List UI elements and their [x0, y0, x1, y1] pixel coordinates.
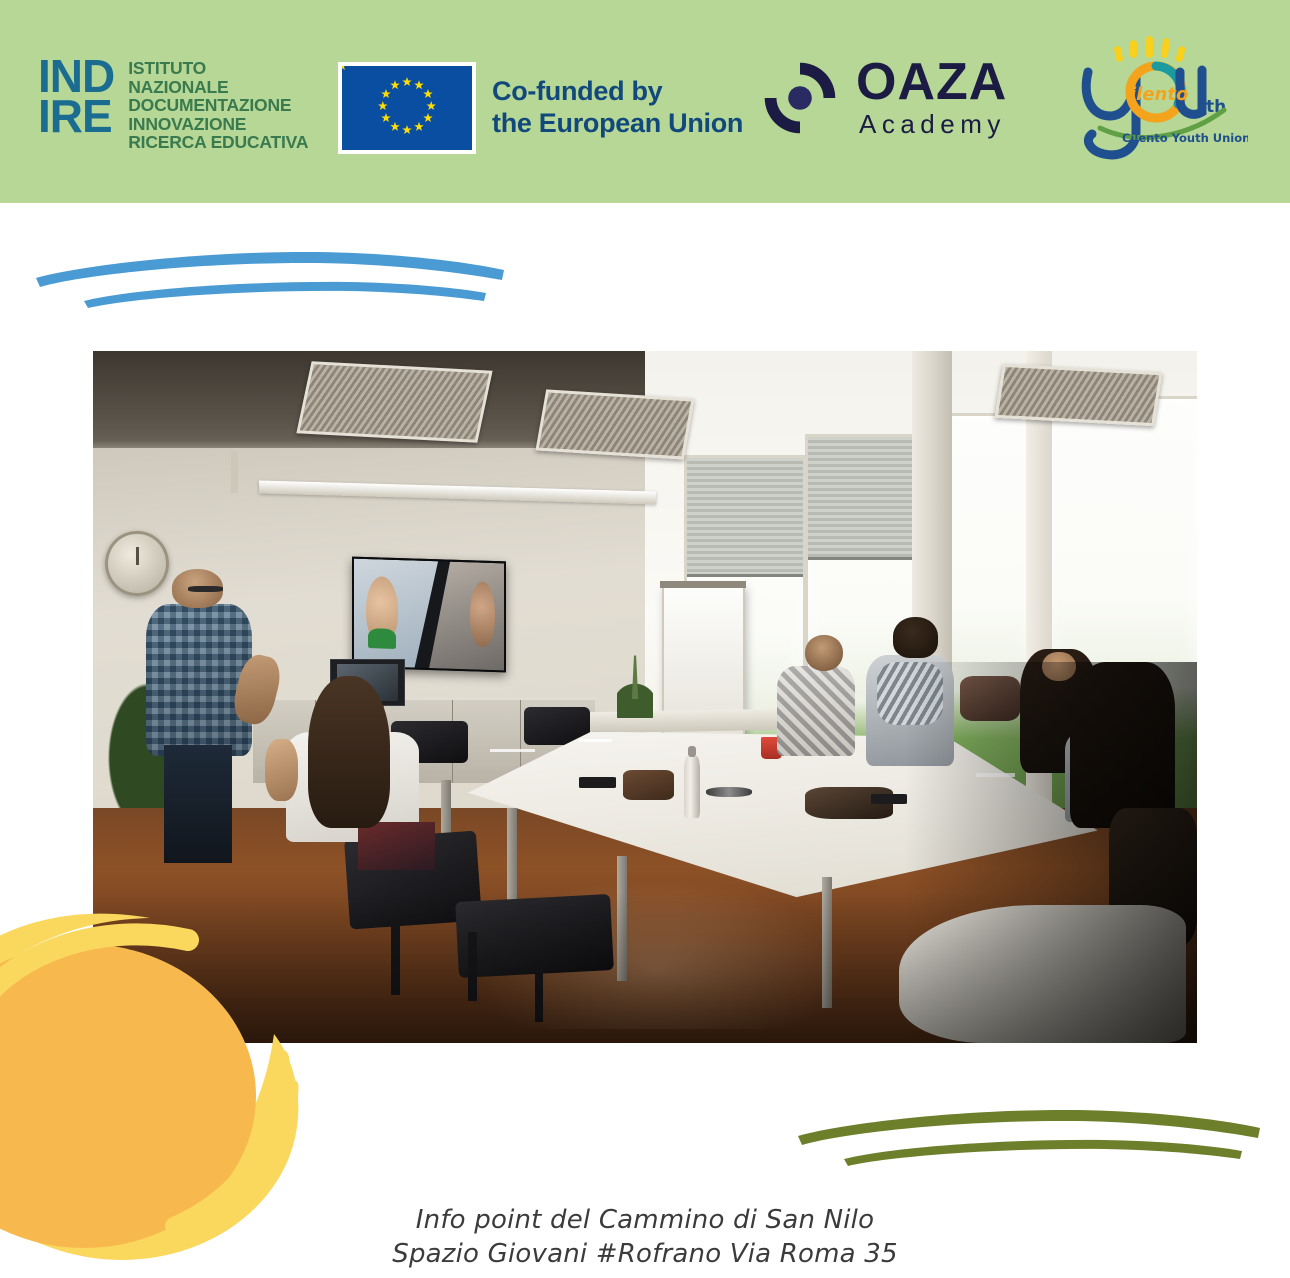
- oaza-academy-logo: OAZA Academy: [758, 56, 1007, 141]
- ceiling-vent: [536, 389, 695, 460]
- indire-logo: IND IRE ISTITUTO NAZIONALE DOCUMENTAZION…: [38, 55, 308, 152]
- indire-descriptor-line-3: DOCUMENTAZIONE: [128, 96, 308, 115]
- eu-flag-icon: [338, 62, 476, 154]
- eu-text-line-1: Co-funded by: [492, 76, 743, 108]
- screen-image-left: [354, 558, 438, 668]
- green-brush-stroke: [782, 1096, 1272, 1166]
- child-face: [470, 581, 496, 646]
- eu-cofunding-logo: Co-funded by the European Union: [338, 62, 743, 154]
- photo-caption: Info point del Cammino di San Nilo Spazi…: [0, 1203, 1290, 1272]
- presenter-plaid-shirt: [146, 604, 252, 756]
- indire-descriptor-line-5: RICERCA EDUCATIVA: [128, 133, 308, 152]
- smartphone: [579, 777, 617, 788]
- blue-brush-stroke: [18, 238, 518, 308]
- indire-descriptor-line-2: NAZIONALE: [128, 78, 308, 97]
- eu-cofunding-text: Co-funded by the European Union: [492, 76, 743, 140]
- water-bottle: [684, 756, 701, 818]
- paper-sheet: [579, 739, 612, 742]
- classroom-meeting-photo: [93, 351, 1197, 1043]
- foreground-participant-arm: [265, 739, 298, 801]
- paper-sheet: [490, 749, 534, 752]
- wall-clock: [105, 531, 168, 597]
- photo-shadow-bottom: [93, 891, 1197, 1043]
- oaza-title: OAZA: [856, 56, 1007, 108]
- child-face: [366, 576, 398, 643]
- indire-descriptor-line-4: INNOVAZIONE: [128, 115, 308, 134]
- youth-inner-word: ilento: [1130, 84, 1188, 105]
- wall-conduit: [231, 451, 238, 493]
- photo-scene: [93, 351, 1197, 1043]
- small-plant: [617, 655, 652, 717]
- indire-descriptor: ISTITUTO NAZIONALE DOCUMENTAZIONE INNOVA…: [128, 55, 308, 152]
- header-logo-band: IND IRE ISTITUTO NAZIONALE DOCUMENTAZION…: [0, 0, 1290, 203]
- caption-line-1: Info point del Cammino di San Nilo: [0, 1203, 1290, 1237]
- indire-descriptor-line-1: ISTITUTO: [128, 59, 308, 78]
- indire-wordmark: IND IRE: [38, 55, 114, 136]
- presenter-trousers: [164, 745, 232, 863]
- caption-line-2: Spazio Giovani #Rofrano Via Roma 35: [0, 1237, 1290, 1271]
- presenter-glasses: [188, 586, 223, 592]
- window-blind: [808, 437, 924, 560]
- oaza-spiral-icon: [758, 56, 842, 140]
- ceiling-vent: [995, 364, 1163, 427]
- sunglasses: [706, 787, 752, 797]
- cilento-youth-union-logo: th ilento Cilento Youth Union: [1052, 36, 1248, 162]
- participant-head: [893, 617, 937, 657]
- foreground-participant-skirt: [358, 822, 435, 870]
- ceiling-vent: [296, 361, 492, 442]
- oaza-subtitle: Academy: [856, 108, 1007, 141]
- indire-wordmark-line-2: IRE: [38, 97, 114, 137]
- oaza-wordmark: OAZA Academy: [856, 56, 1007, 141]
- youth-tagline: Cilento Youth Union: [1122, 131, 1248, 145]
- screen-image-right: [430, 561, 505, 671]
- wall-mounted-screen: [352, 556, 506, 672]
- youth-logo-icon: th ilento Cilento Youth Union: [1052, 36, 1248, 162]
- window-blind: [687, 458, 803, 577]
- brown-bag: [623, 770, 674, 800]
- eu-text-line-2: the European Union: [492, 108, 743, 140]
- foreground-participant-hair: [308, 676, 390, 828]
